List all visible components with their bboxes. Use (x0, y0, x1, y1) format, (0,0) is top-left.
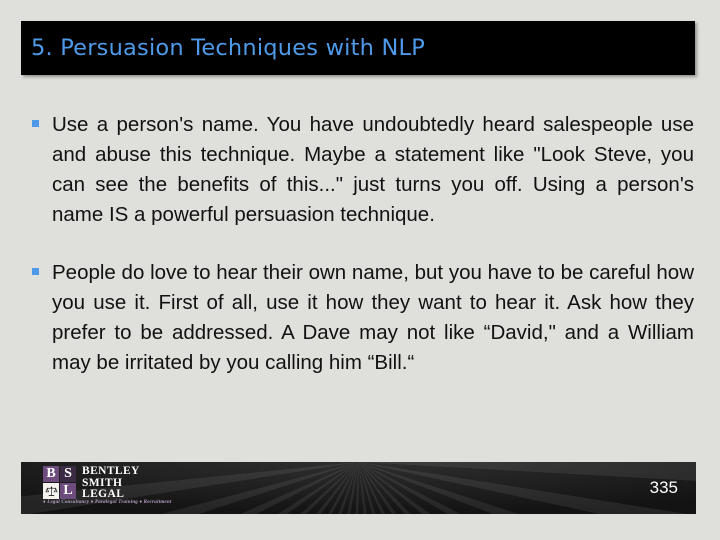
logo-wordmark: BENTLEY SMITH LEGAL (82, 466, 140, 501)
logo-tile-scales (43, 483, 59, 499)
logo-tile-l: L (60, 483, 76, 499)
logo-word-bentley: BENTLEY (82, 466, 140, 478)
page-number: 335 (650, 478, 678, 498)
square-bullet-icon (32, 268, 39, 275)
logo-tagline: ♦ Legal Consultancy ♦ Paralegal Training… (43, 500, 171, 505)
bullet-item: Use a person's name. You have undoubtedl… (22, 110, 694, 230)
bullet-text: People do love to hear their own name, b… (52, 258, 694, 378)
bullet-item: People do love to hear their own name, b… (22, 258, 694, 378)
bullet-text: Use a person's name. You have undoubtedl… (52, 110, 694, 230)
slide-title-bar: 5. Persuasion Techniques with NLP (21, 21, 695, 75)
page-title: 5. Persuasion Techniques with NLP (31, 35, 425, 61)
slide: 5. Persuasion Techniques with NLP Use a … (0, 0, 720, 540)
company-logo: B S L B (43, 466, 140, 501)
scales-of-justice-icon (45, 485, 58, 498)
logo-tile-grid: B S L (43, 466, 76, 499)
logo-tile-b: B (43, 466, 59, 482)
slide-body: Use a person's name. You have undoubtedl… (22, 110, 694, 378)
logo-tile-s: S (60, 466, 76, 482)
square-bullet-icon (32, 120, 39, 127)
slide-footer: B S L B (21, 462, 696, 514)
